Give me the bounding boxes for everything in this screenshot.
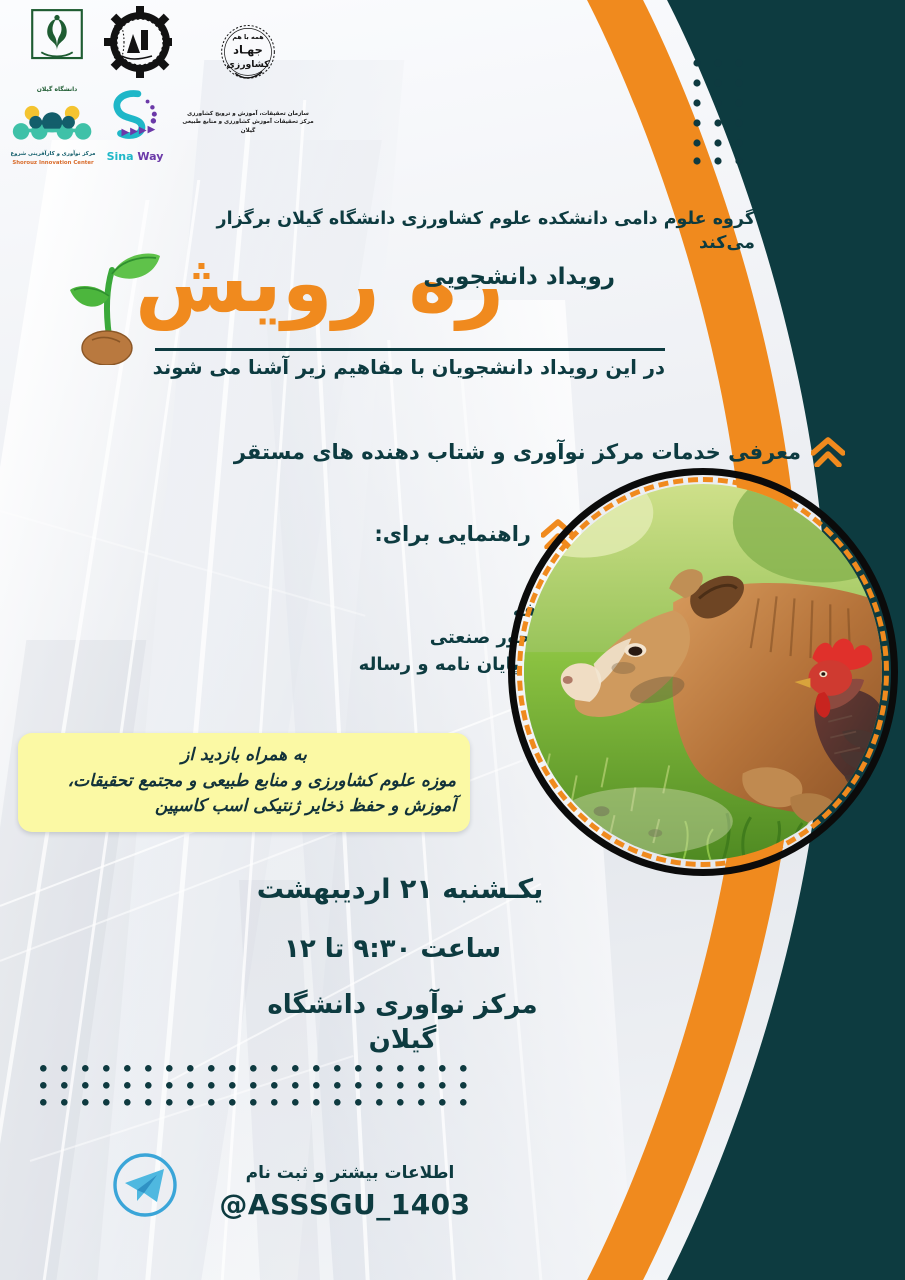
event-location: مرکز نوآوری دانشگاه گیلان <box>230 988 575 1058</box>
highlight-box: به همراه بازدید از موزه علوم کشاورزی و م… <box>18 733 470 832</box>
telegram-handle[interactable]: @ASSSGU_1403 <box>215 1188 475 1221</box>
university-of-guilan-caption: دانشگاه گیلان <box>18 86 96 93</box>
dot-grid-decoration <box>692 58 754 166</box>
university-of-guilan-logo: دانشگاه گیلان <box>18 6 96 98</box>
sina-way-logo: Sina Way <box>98 88 172 166</box>
highlight-line-1: به همراه بازدید از <box>32 743 456 769</box>
highlight-line-2: موزه علوم کشاورزی و منابع طبیعی و مجتمع … <box>32 769 456 795</box>
jahad-keshavarzi-subcaption-2: مرکز تحقیقات آموزش کشاورزی و منابع طبیعی… <box>182 118 314 135</box>
event-time: ساعت ۹:۳۰ تا ۱۲ <box>235 932 550 967</box>
jahad-keshavarzi-logo: همه با هم جهـاد کشاورزی سازمان تحقیقات، … <box>182 22 314 140</box>
more-info-label: اطلاعات بیشتر و ثبت نام <box>225 1162 475 1185</box>
shorouz-caption-fa: مرکز نوآوری و کارآفرینی شروع <box>8 150 98 159</box>
svg-text:همه با هم: همه با هم <box>232 33 264 41</box>
event-kicker: رویداد دانشجویی <box>365 262 615 293</box>
svg-text:کشاورزی: کشاورزی <box>226 59 270 70</box>
dot-grid-decoration <box>40 1065 480 1115</box>
shorouz-caption-en: Shorouz Innovation Center <box>8 159 98 168</box>
telegram-icon[interactable] <box>112 1152 178 1218</box>
bullet-row: معرفی خدمات مرکز نوآوری و شتاب دهنده های… <box>245 437 845 467</box>
shorouz-innovation-center-logo: مرکز نوآوری و کارآفرینی شروع Shorouz Inn… <box>8 104 98 166</box>
event-poster: دانشگاه گیلان <box>0 0 905 1280</box>
agricultural-research-gear-logo <box>100 4 172 82</box>
logo-row: دانشگاه گیلان <box>0 0 520 180</box>
double-chevron-up-icon <box>811 437 845 467</box>
highlight-line-3: آموزش و حفظ ذخایر ژنتیکی اسب کاسپین <box>32 794 456 820</box>
intro-line: در این رویداد دانشجویان با مفاهیم زیر آش… <box>145 355 665 381</box>
event-date: یکـشنبه ۲۱ اردیبهشت <box>235 872 565 908</box>
title-divider <box>155 348 665 351</box>
cow-and-rooster-photo <box>508 468 898 876</box>
svg-text:جهـاد: جهـاد <box>233 42 263 56</box>
jahad-keshavarzi-subcaption: سازمان تحقیقات، آموزش و ترویج کشاورزی <box>182 110 314 118</box>
photo-outer-ring <box>508 468 898 876</box>
bullet-label: معرفی خدمات مرکز نوآوری و شتاب دهنده های… <box>234 440 801 464</box>
